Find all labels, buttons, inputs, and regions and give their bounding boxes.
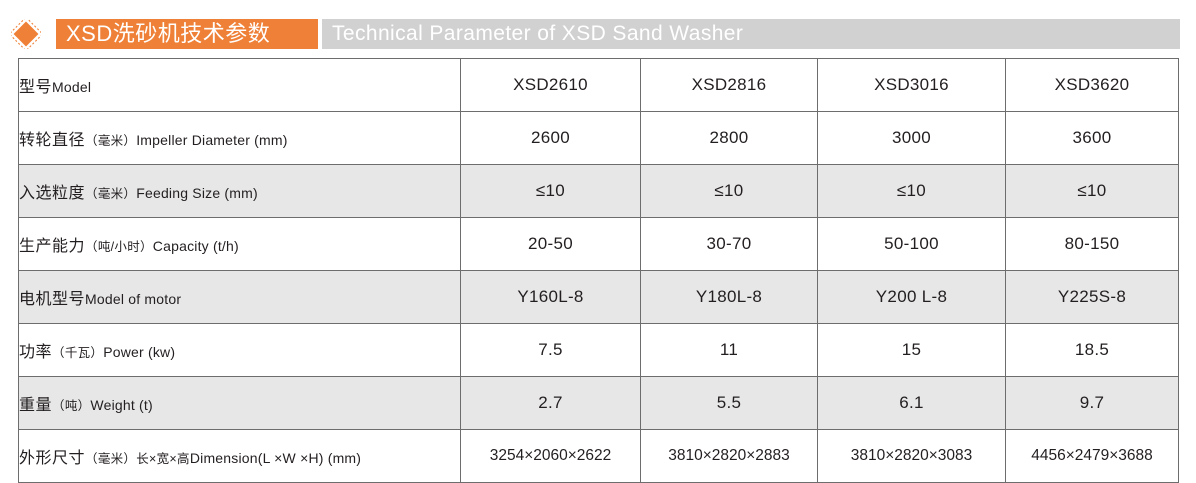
- row-label-power: 功率（千瓦）Power (kw): [19, 324, 461, 377]
- row-label-cn: 入选粒度: [19, 185, 85, 202]
- table-row: 生产能力（吨/小时）Capacity (t/h) 20-50 30-70 50-…: [19, 218, 1179, 271]
- cell-value: 7.5: [461, 324, 641, 377]
- cell-value: 4456×2479×3688: [1006, 430, 1179, 483]
- row-label-unit: （千瓦）: [52, 346, 103, 360]
- cell-value: 15: [818, 324, 1006, 377]
- row-label-impeller-diameter: 转轮直径（毫米）Impeller Diameter (mm): [19, 112, 461, 165]
- row-label-unit: （吨/小时）: [85, 240, 153, 254]
- cell-value: 20-50: [461, 218, 641, 271]
- table-row: 外形尺寸（毫米）长×宽×高Dimension(L ×W ×H) (mm) 325…: [19, 430, 1179, 483]
- cell-value: 50-100: [818, 218, 1006, 271]
- row-label-cn: 型号: [19, 79, 52, 96]
- row-label-en: Power (kw): [103, 344, 175, 360]
- cell-value: 2800: [641, 112, 818, 165]
- cell-value: ≤10: [461, 165, 641, 218]
- cell-model-4: XSD3620: [1006, 59, 1179, 112]
- row-label-en: Feeding Size (mm): [136, 185, 258, 201]
- cell-model-3: XSD3016: [818, 59, 1006, 112]
- cell-value: 3000: [818, 112, 1006, 165]
- cell-value: 11: [641, 324, 818, 377]
- row-label-cn: 外形尺寸: [19, 450, 85, 467]
- cell-value: ≤10: [818, 165, 1006, 218]
- cell-value: 9.7: [1006, 377, 1179, 430]
- row-label-model-of-motor: 电机型号Model of motor: [19, 271, 461, 324]
- cell-value: Y180L-8: [641, 271, 818, 324]
- banner-title-chinese: XSD洗砂机技术参数: [66, 19, 270, 49]
- row-label-feeding-size: 入选粒度（毫米）Feeding Size (mm): [19, 165, 461, 218]
- row-label-unit: （毫米）: [85, 134, 136, 148]
- cell-model-1: XSD2610: [461, 59, 641, 112]
- row-label-cn: 重量: [19, 397, 52, 414]
- table-row: 转轮直径（毫米）Impeller Diameter (mm) 2600 2800…: [19, 112, 1179, 165]
- cell-value: Y225S-8: [1006, 271, 1179, 324]
- row-label-cn: 功率: [19, 344, 52, 361]
- row-label-unit: （毫米）长×宽×高: [85, 452, 190, 466]
- cell-value: Y160L-8: [461, 271, 641, 324]
- cell-value: ≤10: [641, 165, 818, 218]
- row-label-dimension: 外形尺寸（毫米）长×宽×高Dimension(L ×W ×H) (mm): [19, 430, 461, 483]
- row-label-unit: （毫米）: [85, 187, 136, 201]
- table-row: 重量（吨）Weight (t) 2.7 5.5 6.1 9.7: [19, 377, 1179, 430]
- spec-table-container: 型号Model XSD2610 XSD2816 XSD3016 XSD3620 …: [18, 58, 1178, 483]
- table-row: 电机型号Model of motor Y160L-8 Y180L-8 Y200 …: [19, 271, 1179, 324]
- cell-value: 2600: [461, 112, 641, 165]
- cell-value: 5.5: [641, 377, 818, 430]
- cell-value: 6.1: [818, 377, 1006, 430]
- row-label-capacity: 生产能力（吨/小时）Capacity (t/h): [19, 218, 461, 271]
- cell-model-2: XSD2816: [641, 59, 818, 112]
- cell-value: 3254×2060×2622: [461, 430, 641, 483]
- cell-value: 3600: [1006, 112, 1179, 165]
- cell-value: 2.7: [461, 377, 641, 430]
- row-label-en: Dimension(L ×W ×H) (mm): [190, 450, 361, 466]
- row-label-cn: 电机型号: [19, 291, 85, 308]
- diamond-icon: [11, 19, 41, 49]
- table-row: 入选粒度（毫米）Feeding Size (mm) ≤10 ≤10 ≤10 ≤1…: [19, 165, 1179, 218]
- cell-value: 18.5: [1006, 324, 1179, 377]
- cell-value: 3810×2820×3083: [818, 430, 1006, 483]
- row-label-cn: 转轮直径: [19, 132, 85, 149]
- table-row: 功率（千瓦）Power (kw) 7.5 11 15 18.5: [19, 324, 1179, 377]
- banner-title-english: Technical Parameter of XSD Sand Washer: [332, 19, 743, 49]
- row-label-en: Model: [52, 79, 91, 95]
- row-label-unit: （吨）: [52, 399, 90, 413]
- row-label-en: Impeller Diameter (mm): [136, 132, 287, 148]
- row-label-weight: 重量（吨）Weight (t): [19, 377, 461, 430]
- row-label-model: 型号Model: [19, 59, 461, 112]
- cell-value: 80-150: [1006, 218, 1179, 271]
- table-row-model: 型号Model XSD2610 XSD2816 XSD3016 XSD3620: [19, 59, 1179, 112]
- cell-value: ≤10: [1006, 165, 1179, 218]
- row-label-en: Model of motor: [85, 291, 181, 307]
- row-label-cn: 生产能力: [19, 238, 85, 255]
- cell-value: Y200 L-8: [818, 271, 1006, 324]
- page-header-banner: XSD洗砂机技术参数 Technical Parameter of XSD Sa…: [0, 0, 1196, 58]
- cell-value: 3810×2820×2883: [641, 430, 818, 483]
- cell-value: 30-70: [641, 218, 818, 271]
- row-label-en: Weight (t): [90, 397, 152, 413]
- row-label-en: Capacity (t/h): [153, 238, 239, 254]
- spec-table: 型号Model XSD2610 XSD2816 XSD3016 XSD3620 …: [18, 58, 1179, 483]
